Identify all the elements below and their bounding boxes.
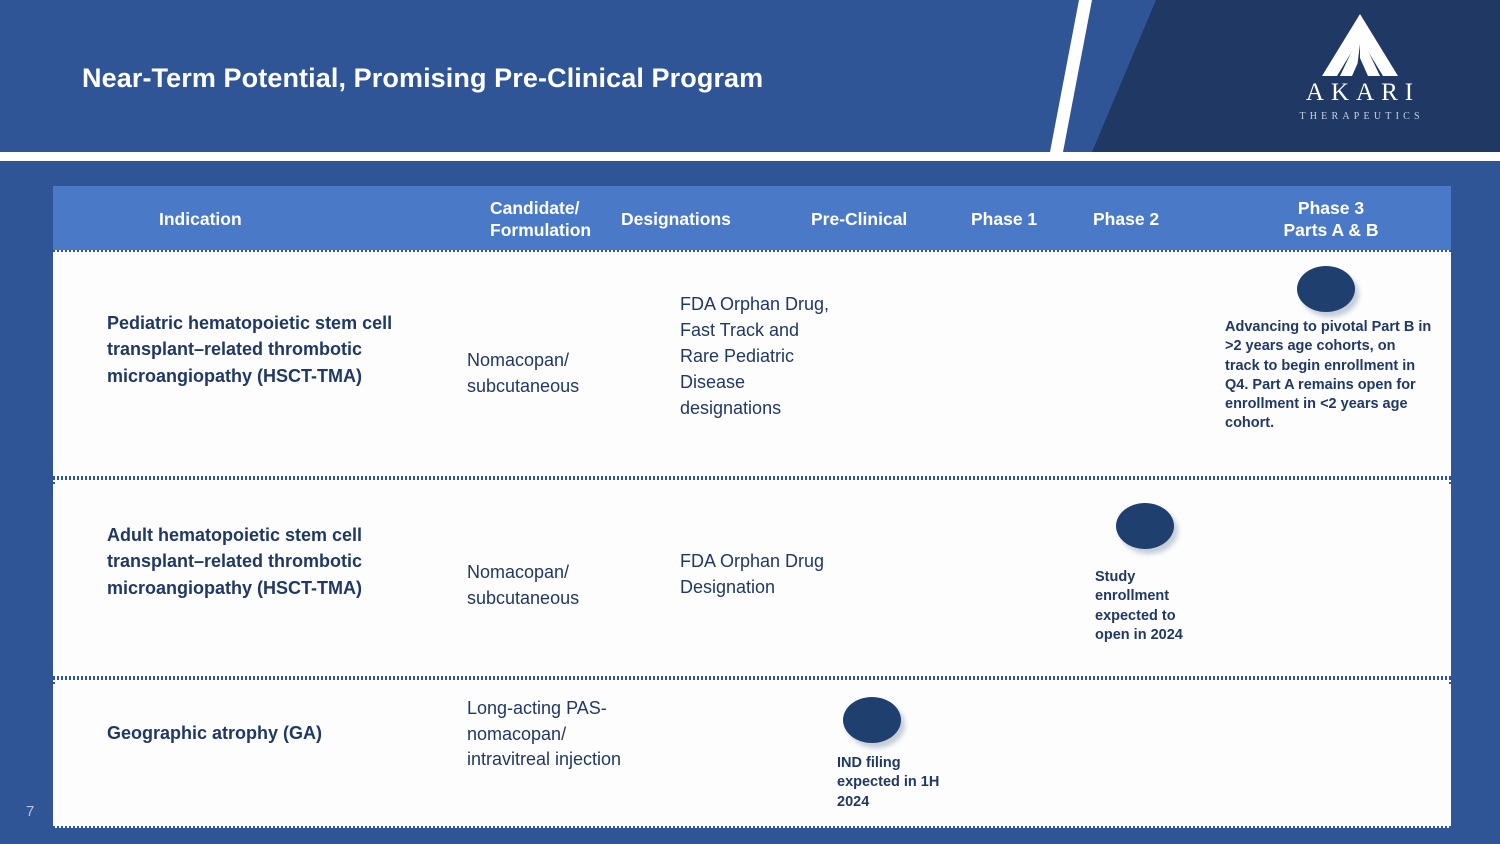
milestone-dot-preclinical (843, 697, 901, 743)
pipeline-table: Indication Candidate/ Formulation Design… (53, 186, 1451, 828)
column-header-candidate: Candidate/ Formulation (490, 198, 591, 242)
cell-candidate: Nomacopan/ subcutaneous (467, 560, 642, 611)
milestone-note-phase3: Advancing to pivotal Part B in >2 years … (1225, 318, 1433, 434)
table-row: Geographic atrophy (GA) Long-acting PAS-… (53, 684, 1451, 826)
column-header-phase3-line2: Parts A & B (1207, 220, 1455, 242)
column-header-candidate-line2: Formulation (490, 220, 591, 242)
milestone-note-phase2: Study enrollment expected to open in 202… (1095, 568, 1199, 645)
column-header-phase2: Phase 2 (1093, 209, 1159, 231)
cell-indication: Geographic atrophy (GA) (107, 720, 412, 746)
akari-logo: AKARI THERAPEUTICS (1257, 14, 1462, 138)
logo-tagline: THERAPEUTICS (1295, 111, 1423, 122)
column-header-phase1: Phase 1 (971, 209, 1037, 231)
table-row: Pediatric hematopoietic stem cell transp… (53, 252, 1451, 476)
column-header-indication: Indication (159, 209, 242, 231)
table-body: Pediatric hematopoietic stem cell transp… (53, 250, 1451, 828)
column-header-designations: Designations (621, 209, 731, 231)
cell-indication: Adult hematopoietic stem cell transplant… (107, 522, 412, 601)
slide-number: 7 (26, 803, 34, 820)
column-header-phase3: Phase 3 Parts A & B (1207, 198, 1455, 242)
column-header-candidate-line1: Candidate/ (490, 198, 591, 220)
cell-designations: FDA Orphan Drug Designation (680, 549, 835, 601)
milestone-dot-phase3 (1297, 266, 1355, 312)
cell-candidate: Long-acting PAS-nomacopan/ intravitreal … (467, 696, 642, 773)
row-separator-1 (53, 476, 1451, 480)
milestone-dot-phase2 (1116, 503, 1174, 549)
cell-candidate: Nomacopan/ subcutaneous (467, 348, 642, 399)
column-header-preclinical: Pre-Clinical (811, 209, 907, 231)
banner-divider (0, 152, 1500, 161)
table-row: Adult hematopoietic stem cell transplant… (53, 484, 1451, 676)
akari-chevron-logo-icon (1322, 14, 1398, 76)
cell-designations: FDA Orphan Drug, Fast Track and Rare Ped… (680, 292, 835, 422)
banner-diagonal-divider (1050, 0, 1092, 152)
page-title: Near-Term Potential, Promising Pre-Clini… (82, 63, 763, 94)
row-separator-2 (53, 676, 1451, 680)
table-border-bottom (53, 826, 1451, 828)
slide-banner: Near-Term Potential, Promising Pre-Clini… (0, 0, 1500, 152)
milestone-note-preclinical: IND filing expected in 1H 2024 (837, 754, 947, 812)
table-header-row: Indication Candidate/ Formulation Design… (53, 186, 1451, 250)
logo-wordmark: AKARI (1299, 80, 1420, 106)
cell-indication: Pediatric hematopoietic stem cell transp… (107, 310, 412, 389)
column-header-phase3-line1: Phase 3 (1207, 198, 1455, 220)
